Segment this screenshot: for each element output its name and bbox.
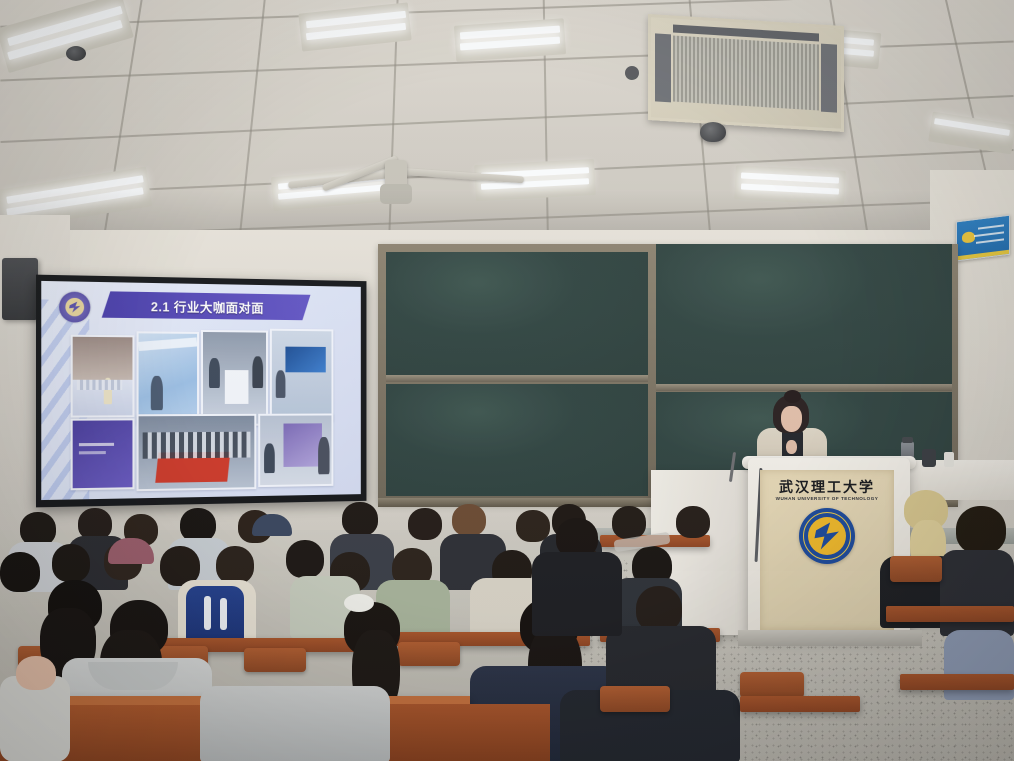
student-head <box>452 504 486 536</box>
hair-scrunchie <box>344 594 374 612</box>
blackboard-panel <box>656 244 952 384</box>
student-head <box>20 512 56 546</box>
photo-figure <box>276 370 286 398</box>
photo-text-line <box>79 451 106 454</box>
slide-title: 2.1 行业大咖面对面 <box>102 291 311 320</box>
wall-notice-sign <box>956 215 1010 262</box>
photo-screen <box>284 423 322 467</box>
dome-camera-icon <box>700 122 726 142</box>
chair-back <box>398 642 460 666</box>
student-head <box>0 552 40 592</box>
desk <box>900 674 1014 690</box>
slide-surface: 2.1 行业大咖面对面 <box>41 281 361 500</box>
slide-photo <box>137 414 257 491</box>
slide-photo <box>201 330 268 426</box>
ac-side-vent <box>821 44 837 113</box>
chair-back <box>890 556 942 582</box>
slide-photo <box>270 329 333 422</box>
desk <box>886 606 1014 622</box>
photo-figure <box>151 376 163 410</box>
audience-area <box>0 490 1014 761</box>
sign-text-line <box>976 238 1004 243</box>
wall-speaker <box>2 258 38 320</box>
student-head <box>52 544 90 582</box>
student-head <box>216 546 254 584</box>
water-bottle <box>922 449 936 467</box>
slide-photo <box>258 413 333 487</box>
photo-screen <box>285 347 325 373</box>
sign-text-line <box>978 224 1004 229</box>
student-torso <box>532 552 622 636</box>
projection-screen: 2.1 行业大咖面对面 <box>36 275 366 508</box>
chair-back <box>600 686 670 712</box>
photo-figure <box>252 356 263 388</box>
presenter-hand <box>786 440 797 454</box>
student-head <box>612 506 646 539</box>
chair-back <box>244 648 306 672</box>
student-head <box>180 508 216 542</box>
sign-bird-icon <box>962 231 975 244</box>
student-head <box>956 506 1006 554</box>
ac-grille <box>673 36 819 111</box>
photo-detail <box>77 380 122 390</box>
backpack-strap <box>220 598 227 630</box>
ac-side-vent <box>655 33 671 102</box>
slide-photo <box>71 335 135 418</box>
backpack-strap <box>204 596 211 630</box>
sign-text-line <box>974 231 1004 237</box>
water-bottle <box>944 452 954 467</box>
photo-text-line <box>79 443 114 446</box>
photo-poster <box>225 370 249 404</box>
slide-photo <box>137 331 199 424</box>
photo-figure <box>318 437 329 474</box>
student-cap <box>252 514 292 536</box>
air-conditioner-unit <box>648 14 844 132</box>
blackboard-panel <box>386 252 648 375</box>
smoke-detector-icon <box>625 66 639 80</box>
chair-back <box>740 672 804 698</box>
blackboard-panel <box>386 384 648 496</box>
presenter-hair-bun <box>784 390 801 403</box>
chalk-tray <box>386 375 648 382</box>
university-emblem-icon <box>59 292 90 323</box>
dome-camera-icon <box>66 46 86 61</box>
photo-figure <box>264 443 275 473</box>
slide-photo <box>71 418 135 490</box>
chalk-tray <box>656 384 952 391</box>
photo-region <box>73 337 133 380</box>
photo-group-figures <box>143 432 251 459</box>
presenter-face <box>781 406 802 432</box>
student-torso <box>940 550 1014 636</box>
student-head <box>408 508 442 540</box>
desk <box>740 696 860 712</box>
photo-figure <box>209 358 220 388</box>
hoodie-hood <box>88 662 178 690</box>
student-head <box>286 540 324 578</box>
student-cap <box>108 538 154 564</box>
student-head <box>342 502 378 536</box>
lecture-hall-photo: 2.1 行业大咖面对面 <box>0 0 1014 761</box>
student-head <box>676 506 710 538</box>
student-hand <box>16 656 56 690</box>
student-hoodie <box>200 686 390 761</box>
thermos-cap <box>902 437 913 443</box>
